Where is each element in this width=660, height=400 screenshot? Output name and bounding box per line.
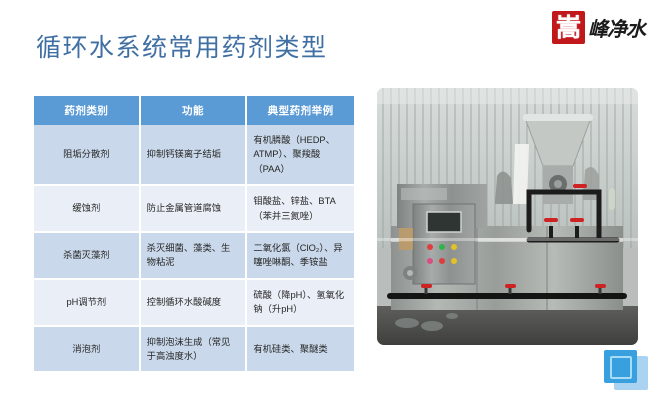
column-header-examples: 典型药剂举例 bbox=[247, 96, 354, 125]
slide-canvas: 嵩 峰净水 循环水系统常用药剂类型 药剂类别 功能 典型药剂举例 阻垢分散剂 抑… bbox=[0, 0, 660, 400]
logo-wordmark: 峰净水 bbox=[588, 13, 645, 42]
table-header-row: 药剂类别 功能 典型药剂举例 bbox=[34, 96, 354, 125]
cell-function: 防止金属管道腐蚀 bbox=[141, 186, 248, 233]
table-row: pH调节剂 控制循环水酸碱度 硫酸（降pH）、氢氧化钠（升pH） bbox=[34, 280, 354, 327]
equipment-photo bbox=[377, 88, 638, 345]
cell-examples: 硫酸（降pH）、氢氧化钠（升pH） bbox=[247, 280, 354, 327]
table-row: 消泡剂 抑制泡沫生成（常见于高浊度水） 有机硅类、聚醚类 bbox=[34, 327, 354, 374]
cell-examples: 钼酸盐、锌盐、BTA（苯并三氮唑） bbox=[247, 186, 354, 233]
cell-category: pH调节剂 bbox=[34, 280, 141, 327]
cell-category: 阻垢分散剂 bbox=[34, 125, 141, 186]
table-header: 药剂类别 功能 典型药剂举例 bbox=[34, 96, 354, 125]
column-header-function: 功能 bbox=[141, 96, 248, 125]
cell-category: 缓蚀剂 bbox=[34, 186, 141, 233]
cell-function: 杀灭细菌、藻类、生物粘泥 bbox=[141, 233, 248, 280]
table-body: 阻垢分散剂 抑制钙镁离子结垢 有机膦酸（HEDP、ATMP）、聚羧酸（PAA） … bbox=[34, 125, 354, 373]
cell-examples: 有机硅类、聚醚类 bbox=[247, 327, 354, 374]
cell-examples: 有机膦酸（HEDP、ATMP）、聚羧酸（PAA） bbox=[247, 125, 354, 186]
decorative-squares bbox=[600, 350, 652, 394]
table-row: 阻垢分散剂 抑制钙镁离子结垢 有机膦酸（HEDP、ATMP）、聚羧酸（PAA） bbox=[34, 125, 354, 186]
chemicals-table: 药剂类别 功能 典型药剂举例 阻垢分散剂 抑制钙镁离子结垢 有机膦酸（HEDP、… bbox=[34, 96, 354, 373]
decorative-square-front bbox=[604, 350, 637, 383]
equipment-photo-illustration bbox=[377, 88, 638, 345]
table: 药剂类别 功能 典型药剂举例 阻垢分散剂 抑制钙镁离子结垢 有机膦酸（HEDP、… bbox=[34, 96, 354, 373]
cell-function: 抑制泡沫生成（常见于高浊度水） bbox=[141, 327, 248, 374]
table-row: 缓蚀剂 防止金属管道腐蚀 钼酸盐、锌盐、BTA（苯并三氮唑） bbox=[34, 186, 354, 233]
seal-icon: 嵩 bbox=[552, 11, 585, 44]
table-row: 杀菌灭藻剂 杀灭细菌、藻类、生物粘泥 二氧化氯（ClO₂）、异噻唑啉酮、季铵盐 bbox=[34, 233, 354, 280]
cell-category: 杀菌灭藻剂 bbox=[34, 233, 141, 280]
page-title: 循环水系统常用药剂类型 bbox=[36, 28, 328, 64]
cell-function: 抑制钙镁离子结垢 bbox=[141, 125, 248, 186]
cell-category: 消泡剂 bbox=[34, 327, 141, 374]
column-header-category: 药剂类别 bbox=[34, 96, 141, 125]
cell-function: 控制循环水酸碱度 bbox=[141, 280, 248, 327]
cell-examples: 二氧化氯（ClO₂）、异噻唑啉酮、季铵盐 bbox=[247, 233, 354, 280]
company-logo: 嵩 峰净水 bbox=[552, 6, 652, 48]
